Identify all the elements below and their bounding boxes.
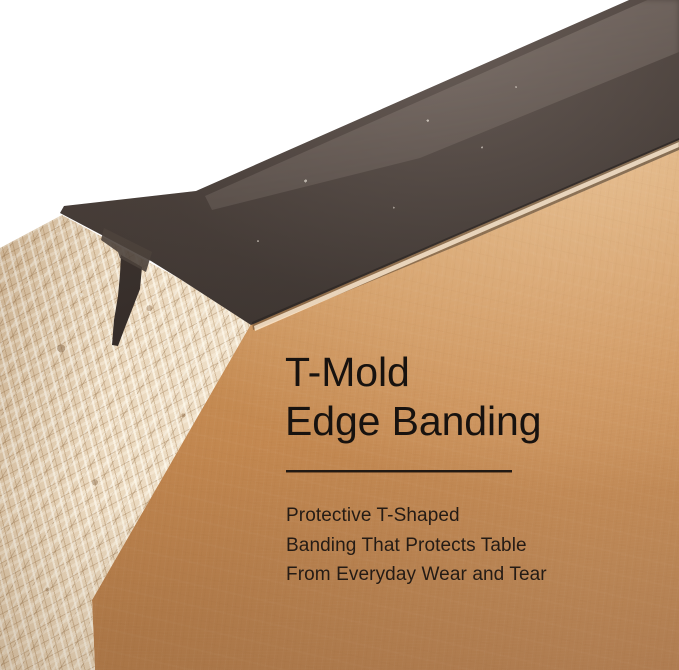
body-line-3: From Everyday Wear and Tear — [286, 560, 645, 590]
headline-line-2: Edge Banding — [285, 397, 645, 446]
headline: T-Mold Edge Banding — [285, 348, 645, 446]
body-copy: Protective T-Shaped Banding That Protect… — [286, 501, 645, 590]
body-line-1: Protective T-Shaped — [286, 501, 645, 531]
caption-block: T-Mold Edge Banding Protective T-Shaped … — [285, 348, 645, 590]
headline-divider — [286, 470, 512, 473]
headline-line-1: T-Mold — [285, 348, 645, 397]
product-feature-image: T-Mold Edge Banding Protective T-Shaped … — [0, 0, 679, 670]
body-line-2: Banding That Protects Table — [286, 531, 645, 561]
